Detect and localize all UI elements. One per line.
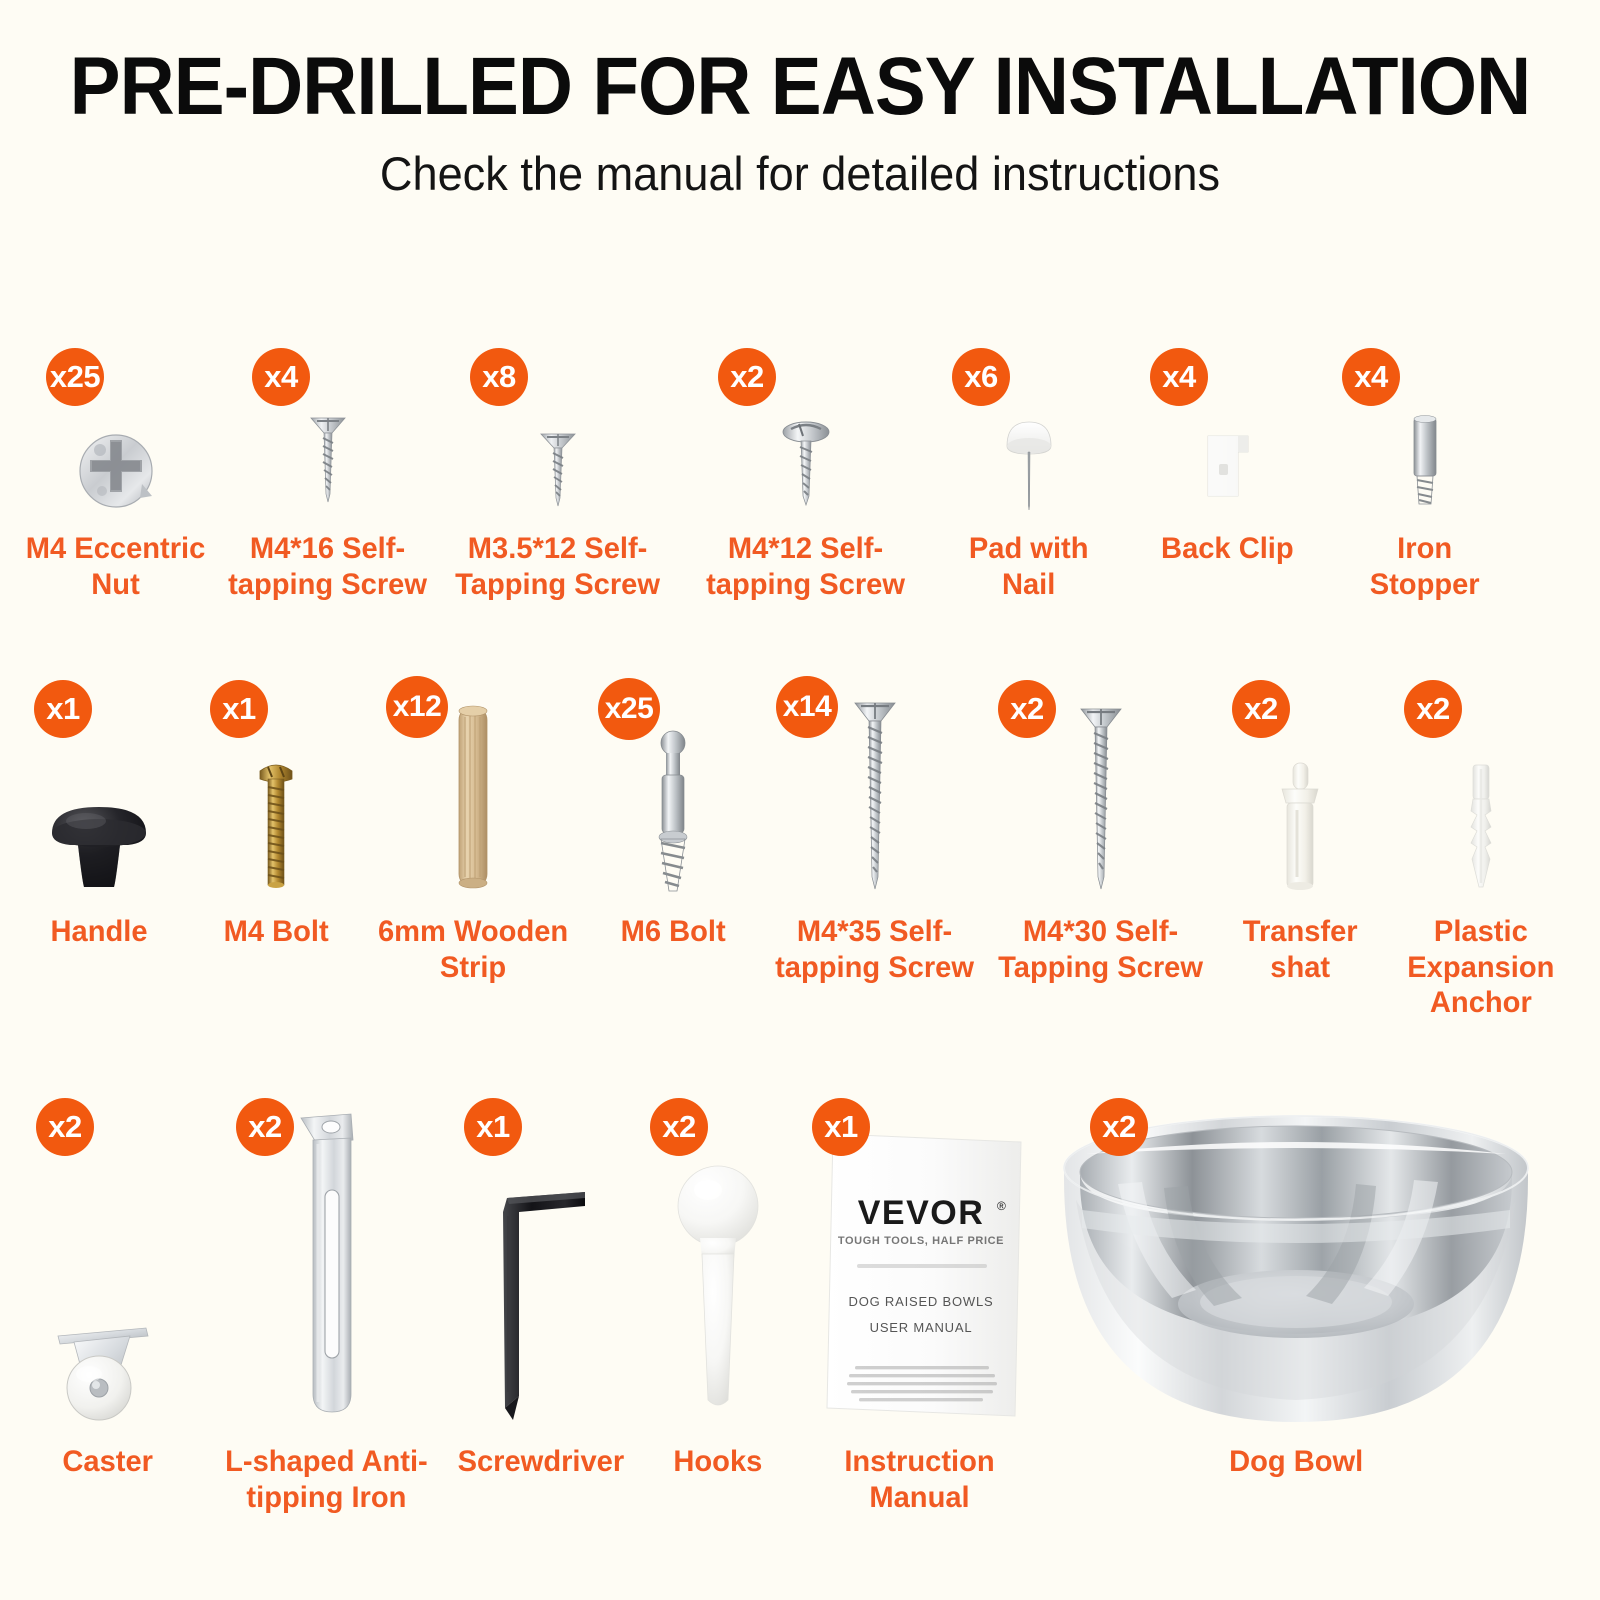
part-art: x6 bbox=[930, 336, 1128, 514]
qty-badge: x2 bbox=[1232, 680, 1290, 738]
part-cell-m4-eccentric-nut[interactable]: x25 M4 Eccentric Nut bbox=[10, 336, 222, 636]
part-art: x2 bbox=[204, 1092, 448, 1422]
part-cell-iron-stopper[interactable]: x4 Iron Stopper bbox=[1326, 336, 1524, 636]
part-cell-m4x35-screw[interactable]: x14 M4*35 Self- tapping Screw bbox=[762, 672, 988, 1032]
part-cell-l-bracket[interactable]: x2 L-shaped Anti- tipping Iron bbox=[204, 1092, 448, 1552]
manual-registered-mark: ® bbox=[997, 1199, 1006, 1213]
pan-head-screw-icon bbox=[777, 408, 835, 514]
part-cell-m4-bolt[interactable]: x1 M4 Bolt bbox=[190, 672, 362, 1032]
part-label: M3.5*12 Self- Tapping Screw bbox=[456, 531, 661, 602]
part-art: x4 bbox=[222, 336, 434, 514]
manual-booklet-icon: VEVOR ® TOUGH TOOLS, HALF PRICE DOG RAIS… bbox=[809, 1124, 1029, 1422]
long-screw-icon bbox=[847, 691, 903, 897]
page-title: PRE-DRILLED FOR EASY INSTALLATION bbox=[56, 46, 1544, 128]
part-art: x2 bbox=[634, 1092, 802, 1422]
parts-row-3: x2 Caster x2 bbox=[0, 1092, 1600, 1552]
part-cell-pad-with-nail[interactable]: x6 Pad with Nail bbox=[930, 336, 1128, 636]
long-screw-icon bbox=[1073, 697, 1129, 897]
manual-tagline: TOUGH TOOLS, HALF PRICE bbox=[838, 1235, 1004, 1247]
qty-badge: x2 bbox=[650, 1098, 708, 1156]
iron-stopper-icon bbox=[1400, 404, 1450, 514]
eccentric-nut-icon bbox=[70, 428, 162, 514]
part-cell-back-clip[interactable]: x4 Back Clip bbox=[1128, 336, 1326, 636]
part-label: M4*16 Self- tapping Screw bbox=[229, 531, 428, 602]
allen-key-icon bbox=[489, 1172, 593, 1422]
part-art: x1 bbox=[448, 1092, 634, 1422]
qty-badge: x25 bbox=[46, 348, 104, 406]
self-tapping-screw-icon bbox=[305, 402, 351, 514]
part-art: x4 bbox=[1128, 336, 1326, 514]
part-art: x4 bbox=[1326, 336, 1524, 514]
part-label: 6mm Wooden Strip bbox=[378, 914, 568, 985]
part-art: x2 bbox=[1036, 1092, 1556, 1422]
part-cell-screwdriver[interactable]: x1 Screwdriver bbox=[448, 1092, 634, 1552]
part-label: M6 Bolt bbox=[620, 914, 725, 950]
part-art: x25 bbox=[584, 672, 762, 897]
manual-brand-text: VEVOR bbox=[858, 1194, 985, 1232]
part-label: Transfer shat bbox=[1243, 914, 1358, 985]
qty-badge: x4 bbox=[1342, 348, 1400, 406]
part-label: Pad with Nail bbox=[969, 531, 1089, 602]
part-art: x8 bbox=[434, 336, 682, 514]
self-tapping-screw-icon bbox=[536, 410, 580, 514]
qty-badge: x2 bbox=[718, 348, 776, 406]
manual-document-type: USER MANUAL bbox=[870, 1320, 973, 1335]
m4-bolt-icon bbox=[253, 747, 299, 897]
part-art: x1 bbox=[8, 672, 190, 897]
part-label: Screwdriver bbox=[458, 1444, 625, 1480]
part-label: M4 Eccentric Nut bbox=[26, 531, 206, 602]
part-art: x2 bbox=[988, 672, 1214, 897]
qty-badge: x1 bbox=[812, 1098, 870, 1156]
part-label: Back Clip bbox=[1161, 531, 1294, 567]
qty-badge: x14 bbox=[776, 676, 838, 738]
qty-badge: x1 bbox=[464, 1098, 522, 1156]
qty-badge: x4 bbox=[1150, 348, 1208, 406]
part-label: M4*12 Self- tapping Screw bbox=[707, 531, 906, 602]
qty-badge: x6 bbox=[952, 348, 1010, 406]
caster-wheel-icon bbox=[44, 1274, 172, 1422]
qty-badge: x2 bbox=[236, 1098, 294, 1156]
m6-bolt-icon bbox=[647, 719, 699, 897]
part-art: x1 VEVOR ® TOUGH TOOLS, HALF PRICE DOG R… bbox=[802, 1092, 1036, 1422]
page-subtitle: Check the manual for detailed instructio… bbox=[32, 150, 1568, 197]
part-cell-m4x12-screw[interactable]: x2 M4*12 Self- tapping Screw bbox=[682, 336, 930, 636]
part-cell-caster[interactable]: x2 Caster bbox=[12, 1092, 204, 1552]
part-label: L-shaped Anti- tipping Iron bbox=[225, 1444, 428, 1515]
qty-badge: x1 bbox=[34, 680, 92, 738]
part-art: x25 bbox=[10, 336, 222, 514]
header-block: PRE-DRILLED FOR EASY INSTALLATION Check … bbox=[0, 0, 1600, 197]
part-label: Handle bbox=[50, 914, 147, 950]
parts-row-1: x25 M4 Eccentric Nut x4 bbox=[0, 336, 1600, 636]
part-art: x2 bbox=[12, 1092, 204, 1422]
part-cell-plastic-anchor[interactable]: x2 Plastic Expansion Anchor bbox=[1386, 672, 1576, 1032]
qty-badge: x2 bbox=[1404, 680, 1462, 738]
part-label: Plastic Expansion Anchor bbox=[1407, 914, 1554, 1021]
part-cell-handle[interactable]: x1 Handle bbox=[8, 672, 190, 1032]
qty-badge: x1 bbox=[210, 680, 268, 738]
qty-badge: x2 bbox=[998, 680, 1056, 738]
part-label: Hooks bbox=[674, 1444, 763, 1480]
part-label: Dog Bowl bbox=[1229, 1444, 1363, 1480]
pad-with-nail-icon bbox=[991, 396, 1067, 514]
l-bracket-icon bbox=[287, 1112, 365, 1422]
part-art: x1 bbox=[190, 672, 362, 897]
part-cell-hooks[interactable]: x2 Hooks bbox=[634, 1092, 802, 1552]
part-cell-transfer-shat[interactable]: x2 Transfer shat bbox=[1214, 672, 1386, 1032]
manual-product-title: DOG RAISED BOWLS bbox=[849, 1294, 994, 1309]
part-cell-wooden-strip[interactable]: x12 6mm Wooden Strip bbox=[362, 672, 584, 1032]
plastic-anchor-icon bbox=[1457, 757, 1505, 897]
hook-peg-icon bbox=[672, 1154, 764, 1422]
part-cell-m4x30-screw[interactable]: x2 M4*30 Self- Tapping Screw bbox=[988, 672, 1214, 1032]
part-label: Instruction Manual bbox=[844, 1444, 994, 1515]
part-label: M4*35 Self- tapping Screw bbox=[776, 914, 975, 985]
part-label: M4*30 Self- Tapping Screw bbox=[999, 914, 1204, 985]
part-cell-instruction-manual[interactable]: x1 VEVOR ® TOUGH TOOLS, HALF PRICE DOG R… bbox=[802, 1092, 1036, 1552]
part-cell-m6-bolt[interactable]: x25 M6 Bolt bbox=[584, 672, 762, 1032]
part-art: x14 bbox=[762, 672, 988, 897]
transfer-shaft-icon bbox=[1270, 755, 1330, 897]
qty-badge: x4 bbox=[252, 348, 310, 406]
part-art: x2 bbox=[1214, 672, 1386, 897]
back-clip-icon bbox=[1192, 414, 1262, 514]
qty-badge: x8 bbox=[470, 348, 528, 406]
part-cell-dog-bowl[interactable]: x2 bbox=[1036, 1092, 1556, 1552]
qty-badge: x2 bbox=[1090, 1098, 1148, 1156]
part-cell-m4x16-screw[interactable]: x4 M4*16 Self- tapping Screw bbox=[222, 336, 434, 636]
part-art: x2 bbox=[1386, 672, 1576, 897]
qty-badge: x12 bbox=[386, 676, 448, 738]
part-label: Iron Stopper bbox=[1370, 531, 1480, 602]
part-cell-m35x12-screw[interactable]: x8 M3.5*12 Self- Tapping Screw bbox=[434, 336, 682, 636]
qty-badge: x25 bbox=[598, 678, 660, 740]
part-label: Caster bbox=[63, 1444, 154, 1480]
wooden-dowel-icon bbox=[449, 697, 497, 897]
part-art: x2 bbox=[682, 336, 930, 514]
part-art: x12 bbox=[362, 672, 584, 897]
qty-badge: x2 bbox=[36, 1098, 94, 1156]
parts-row-2: x1 Handle x1 bbox=[0, 672, 1600, 1032]
part-label: M4 Bolt bbox=[223, 914, 328, 950]
handle-knob-icon bbox=[44, 793, 154, 897]
